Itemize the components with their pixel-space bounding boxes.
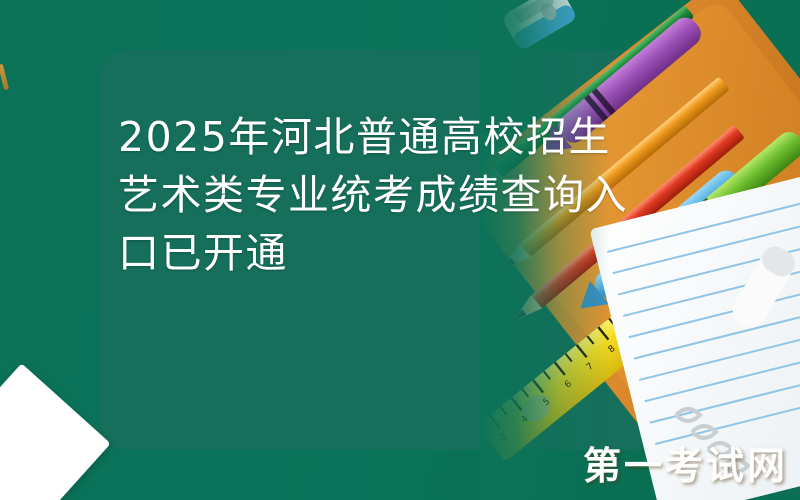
- page-title: 2025年河北普通高校招生艺术类专业统考成绩查询入口已开通: [118, 108, 638, 282]
- banner-image: 345 678 91011 121314: [0, 0, 800, 500]
- pencil-sharpener: [501, 0, 578, 51]
- site-watermark: 第一考试网: [583, 435, 788, 490]
